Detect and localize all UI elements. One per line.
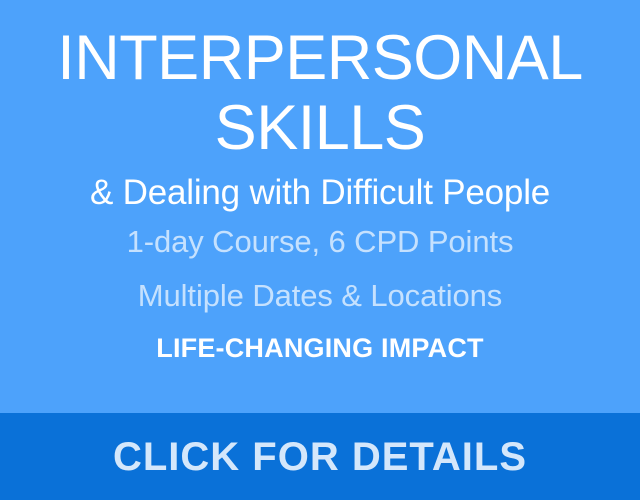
course-detail-duration: 1-day Course, 6 CPD Points: [14, 215, 626, 269]
headline-line-2: SKILLS: [14, 92, 626, 164]
ad-content-area: INTERPERSONAL SKILLS & Dealing with Diff…: [0, 0, 640, 413]
course-detail-dates: Multiple Dates & Locations: [14, 269, 626, 323]
subheadline: & Dealing with Difficult People: [14, 170, 626, 215]
cta-label: CLICK FOR DETAILS: [113, 435, 527, 479]
advertisement-banner[interactable]: INTERPERSONAL SKILLS & Dealing with Diff…: [0, 0, 640, 500]
cta-button[interactable]: CLICK FOR DETAILS: [0, 413, 640, 500]
headline-line-1: INTERPERSONAL: [14, 22, 626, 94]
impact-tagline: LIFE-CHANGING IMPACT: [14, 323, 626, 373]
